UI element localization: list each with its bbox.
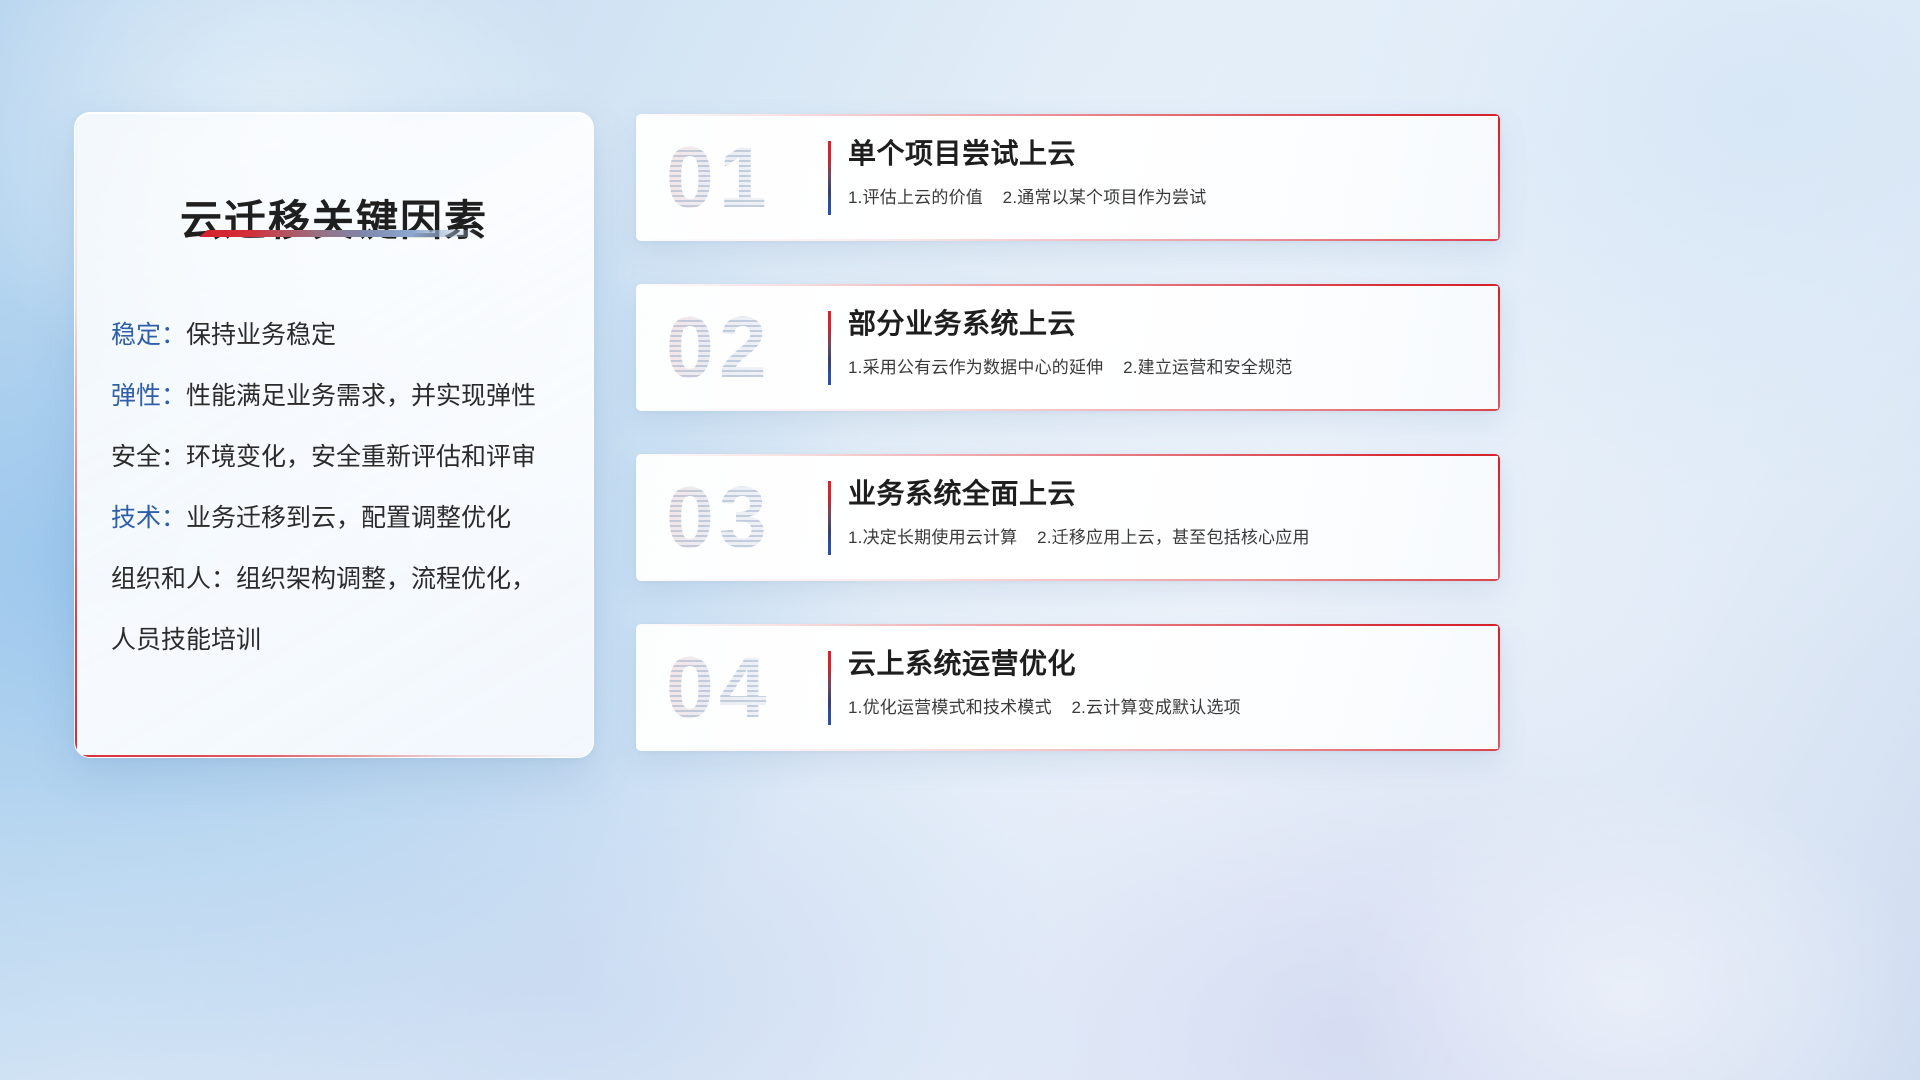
stage-heading: 云上系统运营优化 bbox=[848, 646, 1476, 681]
list-item: 弹性：性能满足业务需求，并实现弹性 bbox=[111, 366, 567, 427]
stage-text-block: 单个项目尝试上云 1.评估上云的价值 2.通常以某个项目作为尝试 bbox=[848, 136, 1476, 208]
factor-text: 环境变化，安全重新评估和评审 bbox=[186, 443, 536, 471]
card-top-accent bbox=[636, 624, 1500, 626]
card-top-accent bbox=[636, 454, 1500, 456]
factor-label: 技术： bbox=[111, 504, 186, 532]
stage-heading: 单个项目尝试上云 bbox=[848, 136, 1476, 171]
card-top-accent bbox=[636, 114, 1500, 116]
card-right-accent bbox=[1498, 454, 1500, 581]
card-bottom-accent bbox=[636, 409, 1500, 411]
factor-text: 保持业务稳定 bbox=[186, 321, 336, 349]
factor-text: 业务迁移到云，配置调整优化 bbox=[186, 504, 511, 532]
stage-card-01[interactable]: 01 单个项目尝试上云 1.评估上云的价值 2.通常以某个项目作为尝试 bbox=[636, 114, 1500, 241]
stage-number: 02 bbox=[666, 305, 772, 391]
card-right-accent bbox=[1498, 114, 1500, 241]
stage-card-04[interactable]: 04 云上系统运营优化 1.优化运营模式和技术模式 2.云计算变成默认选项 bbox=[636, 624, 1500, 751]
factor-label: 组织和人： bbox=[111, 565, 236, 593]
stage-divider-bar bbox=[828, 481, 831, 555]
stage-subtext: 1.优化运营模式和技术模式 2.云计算变成默认选项 bbox=[848, 693, 1476, 718]
stage-subtext: 1.采用公有云作为数据中心的延伸 2.建立运营和安全规范 bbox=[848, 353, 1476, 378]
stage-heading: 业务系统全面上云 bbox=[848, 476, 1476, 511]
factor-text: 组织架构调整，流程优化， bbox=[236, 565, 536, 593]
stage-subtext: 1.评估上云的价值 2.通常以某个项目作为尝试 bbox=[848, 183, 1476, 208]
factor-text: 人员技能培训 bbox=[111, 626, 261, 654]
list-item: 技术：业务迁移到云，配置调整优化 bbox=[111, 488, 567, 549]
page-title: 云迁移关键因素 bbox=[75, 187, 593, 248]
card-right-accent bbox=[1498, 284, 1500, 411]
stage-card-02[interactable]: 02 部分业务系统上云 1.采用公有云作为数据中心的延伸 2.建立运营和安全规范 bbox=[636, 284, 1500, 411]
card-bottom-accent bbox=[636, 239, 1500, 241]
stage-number: 03 bbox=[666, 475, 772, 561]
list-item: 稳定：保持业务稳定 bbox=[111, 305, 567, 366]
factor-text: 性能满足业务需求，并实现弹性 bbox=[186, 382, 536, 410]
factor-label: 安全： bbox=[111, 443, 186, 471]
key-factor-list: 稳定：保持业务稳定 弹性：性能满足业务需求，并实现弹性 安全：环境变化，安全重新… bbox=[111, 305, 567, 671]
list-item: 安全：环境变化，安全重新评估和评审 bbox=[111, 427, 567, 488]
factor-label: 弹性： bbox=[111, 382, 186, 410]
stage-text-block: 部分业务系统上云 1.采用公有云作为数据中心的延伸 2.建立运营和安全规范 bbox=[848, 306, 1476, 378]
migration-stage-cards: 01 单个项目尝试上云 1.评估上云的价值 2.通常以某个项目作为尝试 02 部… bbox=[636, 114, 1500, 794]
key-factors-panel: 云迁移关键因素 稳定：保持业务稳定 弹性：性能满足业务需求，并实现弹性 安全：环… bbox=[74, 112, 594, 758]
stage-subtext: 1.决定长期使用云计算 2.迁移应用上云，甚至包括核心应用 bbox=[848, 523, 1476, 548]
title-underline-gradient bbox=[199, 230, 477, 237]
stage-heading: 部分业务系统上云 bbox=[848, 306, 1476, 341]
stage-divider-bar bbox=[828, 651, 831, 725]
stage-text-block: 业务系统全面上云 1.决定长期使用云计算 2.迁移应用上云，甚至包括核心应用 bbox=[848, 476, 1476, 548]
card-top-accent bbox=[636, 284, 1500, 286]
stage-divider-bar bbox=[828, 311, 831, 385]
card-bottom-accent bbox=[636, 749, 1500, 751]
stage-number: 04 bbox=[666, 645, 772, 731]
stage-divider-bar bbox=[828, 141, 831, 215]
factor-label: 稳定： bbox=[111, 321, 186, 349]
card-bottom-accent bbox=[636, 579, 1500, 581]
stage-number: 01 bbox=[666, 135, 772, 221]
stage-text-block: 云上系统运营优化 1.优化运营模式和技术模式 2.云计算变成默认选项 bbox=[848, 646, 1476, 718]
stage-card-03[interactable]: 03 业务系统全面上云 1.决定长期使用云计算 2.迁移应用上云，甚至包括核心应… bbox=[636, 454, 1500, 581]
card-right-accent bbox=[1498, 624, 1500, 751]
list-item: 组织和人：组织架构调整，流程优化， bbox=[111, 549, 567, 610]
panel-bottom-accent bbox=[75, 755, 593, 757]
slide-canvas: 云迁移关键因素 稳定：保持业务稳定 弹性：性能满足业务需求，并实现弹性 安全：环… bbox=[0, 0, 1920, 1080]
list-item: 人员技能培训 bbox=[111, 610, 567, 671]
